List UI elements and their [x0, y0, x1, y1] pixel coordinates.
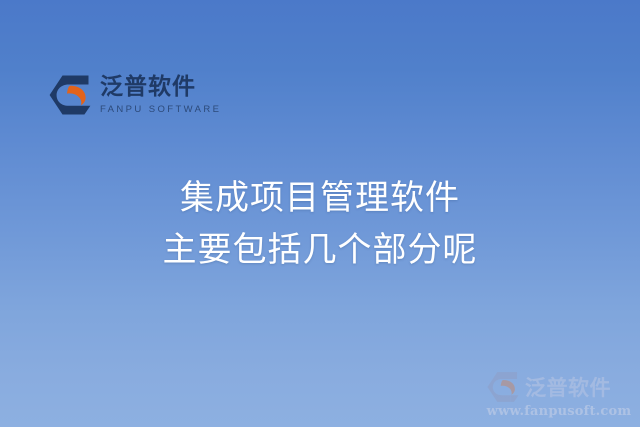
watermark-name-cn: 泛普软件 — [525, 372, 611, 402]
page-title-line-1: 集成项目管理软件 — [0, 172, 640, 224]
watermark: 泛普软件 www.fanpusoft.com — [486, 371, 632, 419]
brand-text: 泛普软件 FANPU SOFTWARE — [100, 76, 221, 115]
brand-lockup: 泛普软件 FANPU SOFTWARE — [48, 74, 221, 116]
fanpu-logo-icon — [48, 74, 92, 116]
brand-name-cn: 泛普软件 — [100, 76, 221, 99]
slide-canvas: 泛普软件 FANPU SOFTWARE 集成项目管理软件 主要包括几个部分呢 泛… — [0, 0, 640, 427]
page-title: 集成项目管理软件 主要包括几个部分呢 — [0, 172, 640, 276]
watermark-logo-row: 泛普软件 — [486, 371, 632, 403]
watermark-url: www.fanpusoft.com — [486, 404, 632, 419]
page-title-line-2: 主要包括几个部分呢 — [0, 224, 640, 276]
fanpu-watermark-logo-icon — [486, 371, 520, 403]
brand-name-en: FANPU SOFTWARE — [100, 105, 221, 115]
